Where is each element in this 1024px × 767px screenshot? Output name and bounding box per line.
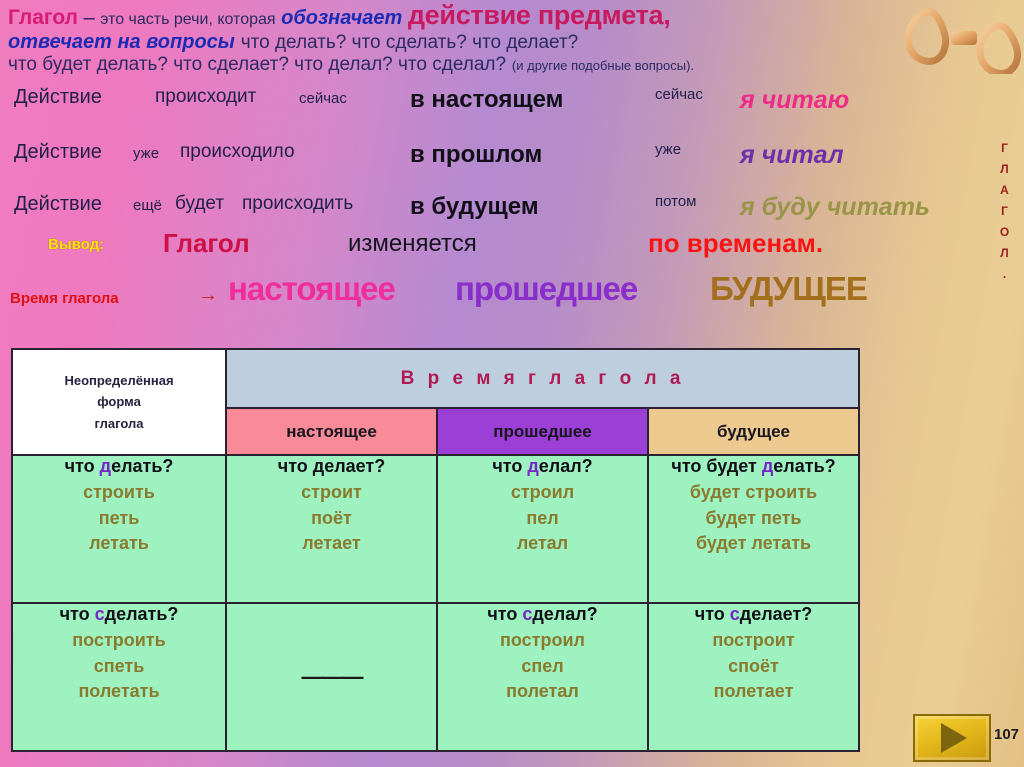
verb-item: летал (438, 531, 647, 557)
verb-item: полетать (13, 679, 225, 705)
tense-row-past: Действие уже происходило в прошлом уже я… (0, 141, 1024, 185)
vertical-letter: Л (1000, 162, 1009, 176)
definition-questions-2: что будет делать? что сделает? что делал… (8, 54, 506, 75)
cell-infinitive-imperfective: что делать? строить петь летать (12, 455, 226, 603)
question-post: елать? (111, 456, 173, 476)
arrow-right-icon: → (198, 284, 218, 307)
play-triangle-icon (941, 723, 967, 753)
tense-row-present: Действие происходит сейчас в настоящем с… (0, 86, 1024, 130)
verb-item: полетал (438, 679, 647, 705)
question-pre: что делает? (278, 456, 386, 476)
table-header-row: Неопределённая форма глагола В р е м я г… (12, 349, 859, 408)
empty-dash: ——— (302, 664, 362, 690)
verb-item: будет строить (649, 480, 858, 506)
tense-names-row: Время глагола → настоящее прошедшее БУДУ… (0, 272, 1024, 318)
conclusion-subject: Глагол (163, 228, 250, 259)
definition-note: (и другие подобные вопросы). (512, 58, 694, 73)
question-post: делать? (105, 604, 179, 624)
cell-infinitive-perfective: что сделать? построить спеть полетать (12, 603, 226, 751)
subheader-present: настоящее (226, 408, 437, 455)
table-row: что делать? строить петь летать что дела… (12, 455, 859, 603)
definition-line-2: отвечает на вопросы что делать? что сдел… (8, 31, 938, 52)
slide-root: Глагол – это часть речи, которая обознач… (0, 0, 1024, 767)
term-glagol: Глагол (8, 6, 78, 29)
subheader-past: прошедшее (437, 408, 648, 455)
tense-row-time: уже (133, 145, 159, 162)
tense-row-subject: Действие (14, 193, 102, 216)
verb-item: построить (13, 628, 225, 654)
cell-question: что делал? (438, 456, 647, 477)
verb-tense-table: Неопределённая форма глагола В р е м я г… (11, 348, 860, 752)
next-slide-button[interactable] (913, 714, 991, 762)
verb-item: споёт (649, 654, 858, 680)
tense-row-time: ещё (133, 197, 162, 214)
cell-future-perfective: что сделает? построит споёт полетает (648, 603, 859, 751)
cell-question: что сделать? (13, 604, 225, 625)
verb-item: полетает (649, 679, 858, 705)
header-infinitive-line: глагола (13, 413, 225, 434)
verb-item: летать (13, 531, 225, 557)
question-pre: что (492, 456, 527, 476)
question-post: делал? (532, 604, 597, 624)
tense-row-subject: Действие (14, 86, 102, 109)
verb-item: будет петь (649, 506, 858, 532)
cell-question: что делать? (13, 456, 225, 477)
conclusion-verb: изменяется (348, 230, 477, 258)
question-post: елать? (773, 456, 835, 476)
header-infinitive-line: Неопределённая (13, 370, 225, 391)
cell-question: что сделает? (649, 604, 858, 625)
tense-row-when-past: уже (655, 141, 681, 158)
tense-row-time: сейчас (299, 90, 347, 107)
verb-item: летает (227, 531, 436, 557)
definition-dash: – (84, 7, 95, 29)
definition-highlight-action: действие предмета, (408, 0, 671, 30)
question-pre: что (65, 456, 100, 476)
conclusion-label: Вывод: (48, 236, 104, 253)
tense-name-future-big: БУДУЩЕЕ (710, 270, 867, 308)
example-past: я читал (740, 141, 844, 170)
example-future: я буду читать (740, 193, 930, 222)
question-pre: что (60, 604, 95, 624)
verb-item: спеть (13, 654, 225, 680)
tense-name-future: в будущем (410, 193, 539, 221)
vertical-letter: Г (1001, 204, 1009, 218)
definition-block: Глагол – это часть речи, которая обознач… (8, 2, 938, 75)
cell-present-imperfective: что делает? строит поёт летает (226, 455, 437, 603)
definition-questions-1: что делать? что сделать? что делает? (241, 32, 579, 53)
tense-name-present: в настоящем (410, 86, 563, 114)
cell-present-perfective-empty: ——— (226, 603, 437, 751)
header-infinitive: Неопределённая форма глагола (12, 349, 226, 455)
tense-row-aux: будет (175, 193, 224, 215)
tense-row-subject: Действие (14, 141, 102, 164)
question-pre: что (487, 604, 522, 624)
conclusion-row: Вывод: Глагол изменяется по временам. (0, 228, 1024, 268)
vertical-letter: А (1000, 183, 1010, 197)
definition-text-1: это часть речи, которая (100, 11, 275, 28)
question-highlight: с (730, 604, 740, 624)
verb-item: будет летать (649, 531, 858, 557)
cell-past-perfective: что сделал? построил спел полетал (437, 603, 648, 751)
header-infinitive-line: форма (13, 391, 225, 412)
tense-row-verb: происходить (242, 193, 353, 215)
question-highlight: с (95, 604, 105, 624)
verb-item: строит (227, 480, 436, 506)
question-highlight: с (522, 604, 532, 624)
tense-name-past-big: прошедшее (455, 270, 637, 308)
header-tense-group: В р е м я г л а г о л а (226, 349, 859, 408)
cell-future-imperfective: что будет делать? будет строить будет пе… (648, 455, 859, 603)
definition-emph-otvechaet: отвечает на вопросы (8, 31, 235, 53)
question-pre: что будет (671, 456, 761, 476)
question-post: елал? (539, 456, 593, 476)
tense-names-label: Время глагола (10, 290, 119, 307)
verb-item: строить (13, 480, 225, 506)
tense-row-verb: происходит (155, 86, 256, 108)
question-highlight: д (100, 456, 111, 476)
tense-row-when-present: сейчас (655, 86, 703, 103)
tense-row-verb: происходило (180, 141, 295, 163)
verb-item: пел (438, 506, 647, 532)
question-pre: что (695, 604, 730, 624)
definition-emph-oboznachaet: обозначает (281, 7, 402, 29)
cell-past-imperfective: что делал? строил пел летал (437, 455, 648, 603)
verb-item: строил (438, 480, 647, 506)
definition-line-1: Глагол – это часть речи, которая обознач… (8, 2, 938, 30)
verb-item: построил (438, 628, 647, 654)
question-highlight: д (762, 456, 773, 476)
question-post: делает? (740, 604, 812, 624)
conclusion-object: по временам. (648, 228, 823, 259)
verb-item: поёт (227, 506, 436, 532)
verb-item: спел (438, 654, 647, 680)
subheader-future: будущее (648, 408, 859, 455)
tense-row-when-future: потом (655, 193, 697, 210)
tense-name-past: в прошлом (410, 141, 542, 169)
cell-question: что будет делать? (649, 456, 858, 477)
definition-line-3: что будет делать? что сделает? что делал… (8, 53, 938, 74)
verb-item: петь (13, 506, 225, 532)
tense-name-present-big: настоящее (228, 270, 395, 308)
table-row: что сделать? построить спеть полетать ——… (12, 603, 859, 751)
verb-item: построит (649, 628, 858, 654)
page-number: 107 (994, 726, 1019, 743)
cell-question: что делает? (227, 456, 436, 477)
cell-question: что сделал? (438, 604, 647, 625)
vertical-letter: Г (1001, 141, 1009, 155)
example-present: я читаю (740, 86, 849, 115)
question-highlight: д (527, 456, 538, 476)
